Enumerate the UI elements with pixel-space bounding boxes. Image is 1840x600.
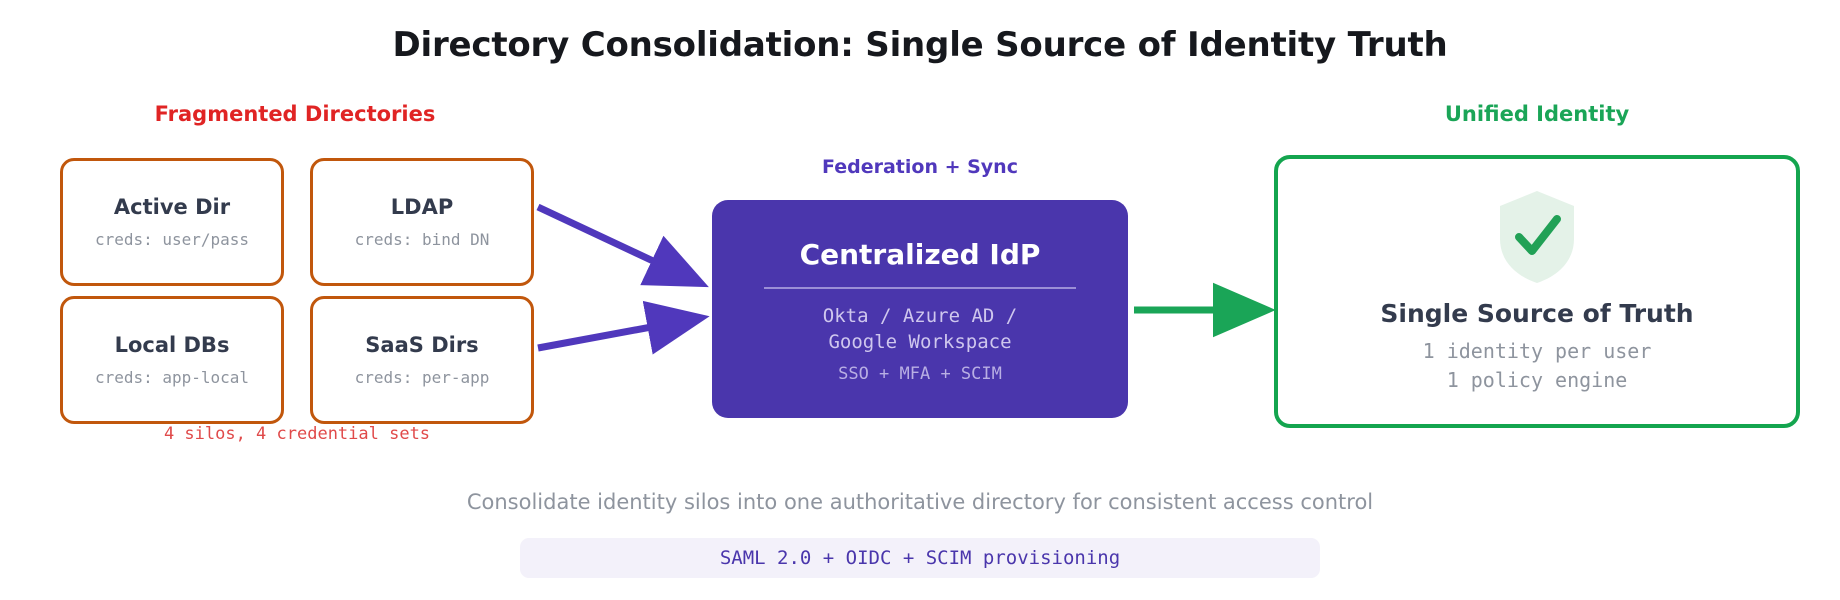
idp-features: SSO + MFA + SCIM <box>838 364 1002 384</box>
shield-check-icon <box>1496 189 1578 285</box>
unified-heading: Unified Identity <box>1274 102 1800 126</box>
source-creds: creds: per-app <box>355 368 490 387</box>
arrow-ldap-to-idp <box>538 207 700 283</box>
unified-title: Single Source of Truth <box>1380 299 1693 328</box>
source-creds: creds: user/pass <box>95 230 249 249</box>
source-creds: creds: app-local <box>95 368 249 387</box>
source-title: SaaS Dirs <box>365 333 478 357</box>
single-source-of-truth-box[interactable]: Single Source of Truth 1 identity per us… <box>1274 155 1800 428</box>
unified-detail-line2: 1 policy engine <box>1447 366 1628 394</box>
source-title: LDAP <box>391 195 453 219</box>
source-title: Local DBs <box>115 333 230 357</box>
fragmented-heading: Fragmented Directories <box>60 102 530 126</box>
federation-heading: Federation + Sync <box>712 156 1128 178</box>
idp-title: Centralized IdP <box>800 238 1041 271</box>
source-creds: creds: bind DN <box>355 230 490 249</box>
page-title: Directory Consolidation: Single Source o… <box>0 25 1840 65</box>
source-box-ldap[interactable]: LDAP creds: bind DN <box>310 158 534 286</box>
source-box-saas-dirs[interactable]: SaaS Dirs creds: per-app <box>310 296 534 424</box>
source-box-local-dbs[interactable]: Local DBs creds: app-local <box>60 296 284 424</box>
idp-divider <box>764 287 1076 289</box>
unified-detail-line1: 1 identity per user <box>1423 337 1652 365</box>
footer-caption: Consolidate identity silos into one auth… <box>0 490 1840 514</box>
centralized-idp-box[interactable]: Centralized IdP Okta / Azure AD / Google… <box>712 200 1128 418</box>
silo-count-note: 4 silos, 4 credential sets <box>60 424 534 444</box>
source-box-active-dir[interactable]: Active Dir creds: user/pass <box>60 158 284 286</box>
arrow-saas-to-idp <box>538 318 700 348</box>
diagram-canvas: Directory Consolidation: Single Source o… <box>0 0 1840 600</box>
protocol-badge: SAML 2.0 + OIDC + SCIM provisioning <box>520 538 1320 578</box>
idp-providers-line1: Okta / Azure AD / <box>823 303 1017 329</box>
protocol-badge-label: SAML 2.0 + OIDC + SCIM provisioning <box>720 547 1120 569</box>
idp-providers-line2: Google Workspace <box>828 329 1011 355</box>
source-title: Active Dir <box>114 195 230 219</box>
